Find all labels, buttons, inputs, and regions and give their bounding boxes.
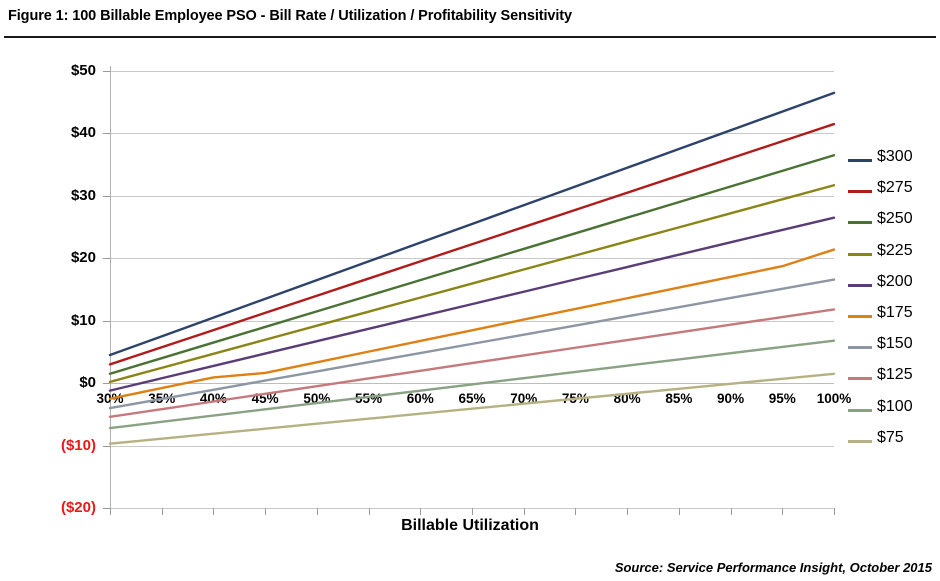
legend-item-label: $275 (877, 179, 913, 197)
series-line-75 (110, 374, 834, 444)
gridline (110, 321, 834, 322)
x-axis-tick-label: 85% (665, 391, 692, 406)
y-axis-tick-label: $10 (22, 312, 96, 329)
y-axis-tick-label: $0 (22, 374, 96, 391)
legend-item-label: $300 (877, 148, 913, 166)
y-axis-tick-label: $20 (22, 249, 96, 266)
legend-item-label: $225 (877, 242, 913, 260)
x-axis-tick-mark (110, 508, 111, 515)
chart-plot-area (0, 0, 940, 581)
x-axis-tick-mark (679, 508, 680, 515)
x-axis-tick-label: 30% (96, 391, 123, 406)
legend-item-label: $200 (877, 273, 913, 291)
page-title: Figure 1: 100 Billable Employee PSO - Bi… (8, 8, 572, 24)
legend-color-swatch (848, 253, 872, 256)
legend-item-label: $125 (877, 366, 913, 384)
y-axis-line (110, 66, 111, 512)
x-axis-tick-mark (162, 508, 163, 515)
series-line-300 (110, 93, 834, 355)
legend-color-swatch (848, 284, 872, 287)
legend-item-label: $250 (877, 210, 913, 228)
x-axis-tick-mark (627, 508, 628, 515)
series-line-250 (110, 155, 834, 374)
series-line-150 (110, 280, 834, 409)
title-divider (4, 36, 936, 38)
gridline (110, 258, 834, 259)
x-axis-tick-mark (317, 508, 318, 515)
legend-color-swatch (848, 159, 872, 162)
series-line-200 (110, 218, 834, 391)
x-axis-tick-label: 75% (562, 391, 589, 406)
x-axis-tick-label: 65% (458, 391, 485, 406)
y-axis-tick-label: ($10) (22, 437, 96, 454)
legend-item-label: $150 (877, 335, 913, 353)
x-axis-tick-mark (524, 508, 525, 515)
x-axis-tick-mark (265, 508, 266, 515)
legend-color-swatch (848, 440, 872, 443)
gridline (110, 133, 834, 134)
x-axis-tick-mark (213, 508, 214, 515)
x-axis-tick-mark (575, 508, 576, 515)
x-axis-tick-mark (834, 508, 835, 515)
legend-item-label: $75 (877, 429, 904, 447)
x-axis-tick-label: 45% (252, 391, 279, 406)
x-axis-tick-label: 60% (407, 391, 434, 406)
gridline (110, 446, 834, 447)
gridline (110, 383, 834, 384)
x-axis-tick-mark (731, 508, 732, 515)
legend-color-swatch (848, 409, 872, 412)
x-axis-tick-mark (472, 508, 473, 515)
x-axis-title: Billable Utilization (0, 517, 940, 535)
series-line-225 (110, 185, 834, 382)
x-axis-tick-label: 50% (303, 391, 330, 406)
x-axis-tick-label: 90% (717, 391, 744, 406)
series-line-100 (110, 341, 834, 428)
x-axis-tick-mark (420, 508, 421, 515)
source-note: Source: Service Performance Insight, Oct… (615, 560, 932, 575)
y-axis-tick-label: ($20) (22, 499, 96, 516)
x-axis-tick-label: 70% (510, 391, 537, 406)
x-axis-tick-label: 80% (614, 391, 641, 406)
legend-color-swatch (848, 221, 872, 224)
y-axis-tick-label: $30 (22, 187, 96, 204)
gridline (110, 71, 834, 72)
legend-color-swatch (848, 346, 872, 349)
y-axis-tick-label: $50 (22, 62, 96, 79)
x-axis-tick-mark (782, 508, 783, 515)
x-axis-tick-label: 100% (817, 391, 852, 406)
legend-color-swatch (848, 315, 872, 318)
legend-item-label: $175 (877, 304, 913, 322)
series-line-175 (110, 250, 834, 399)
x-axis-tick-mark (369, 508, 370, 515)
figure-container: Figure 1: 100 Billable Employee PSO - Bi… (0, 0, 940, 581)
x-axis-tick-label: 40% (200, 391, 227, 406)
gridline (110, 196, 834, 197)
y-axis-tick-label: $40 (22, 124, 96, 141)
x-axis-tick-label: 35% (148, 391, 175, 406)
x-axis-tick-label: 55% (355, 391, 382, 406)
series-line-275 (110, 124, 834, 364)
x-axis-tick-label: 95% (769, 391, 796, 406)
legend-color-swatch (848, 190, 872, 193)
legend-item-label: $100 (877, 398, 913, 416)
legend-color-swatch (848, 377, 872, 380)
